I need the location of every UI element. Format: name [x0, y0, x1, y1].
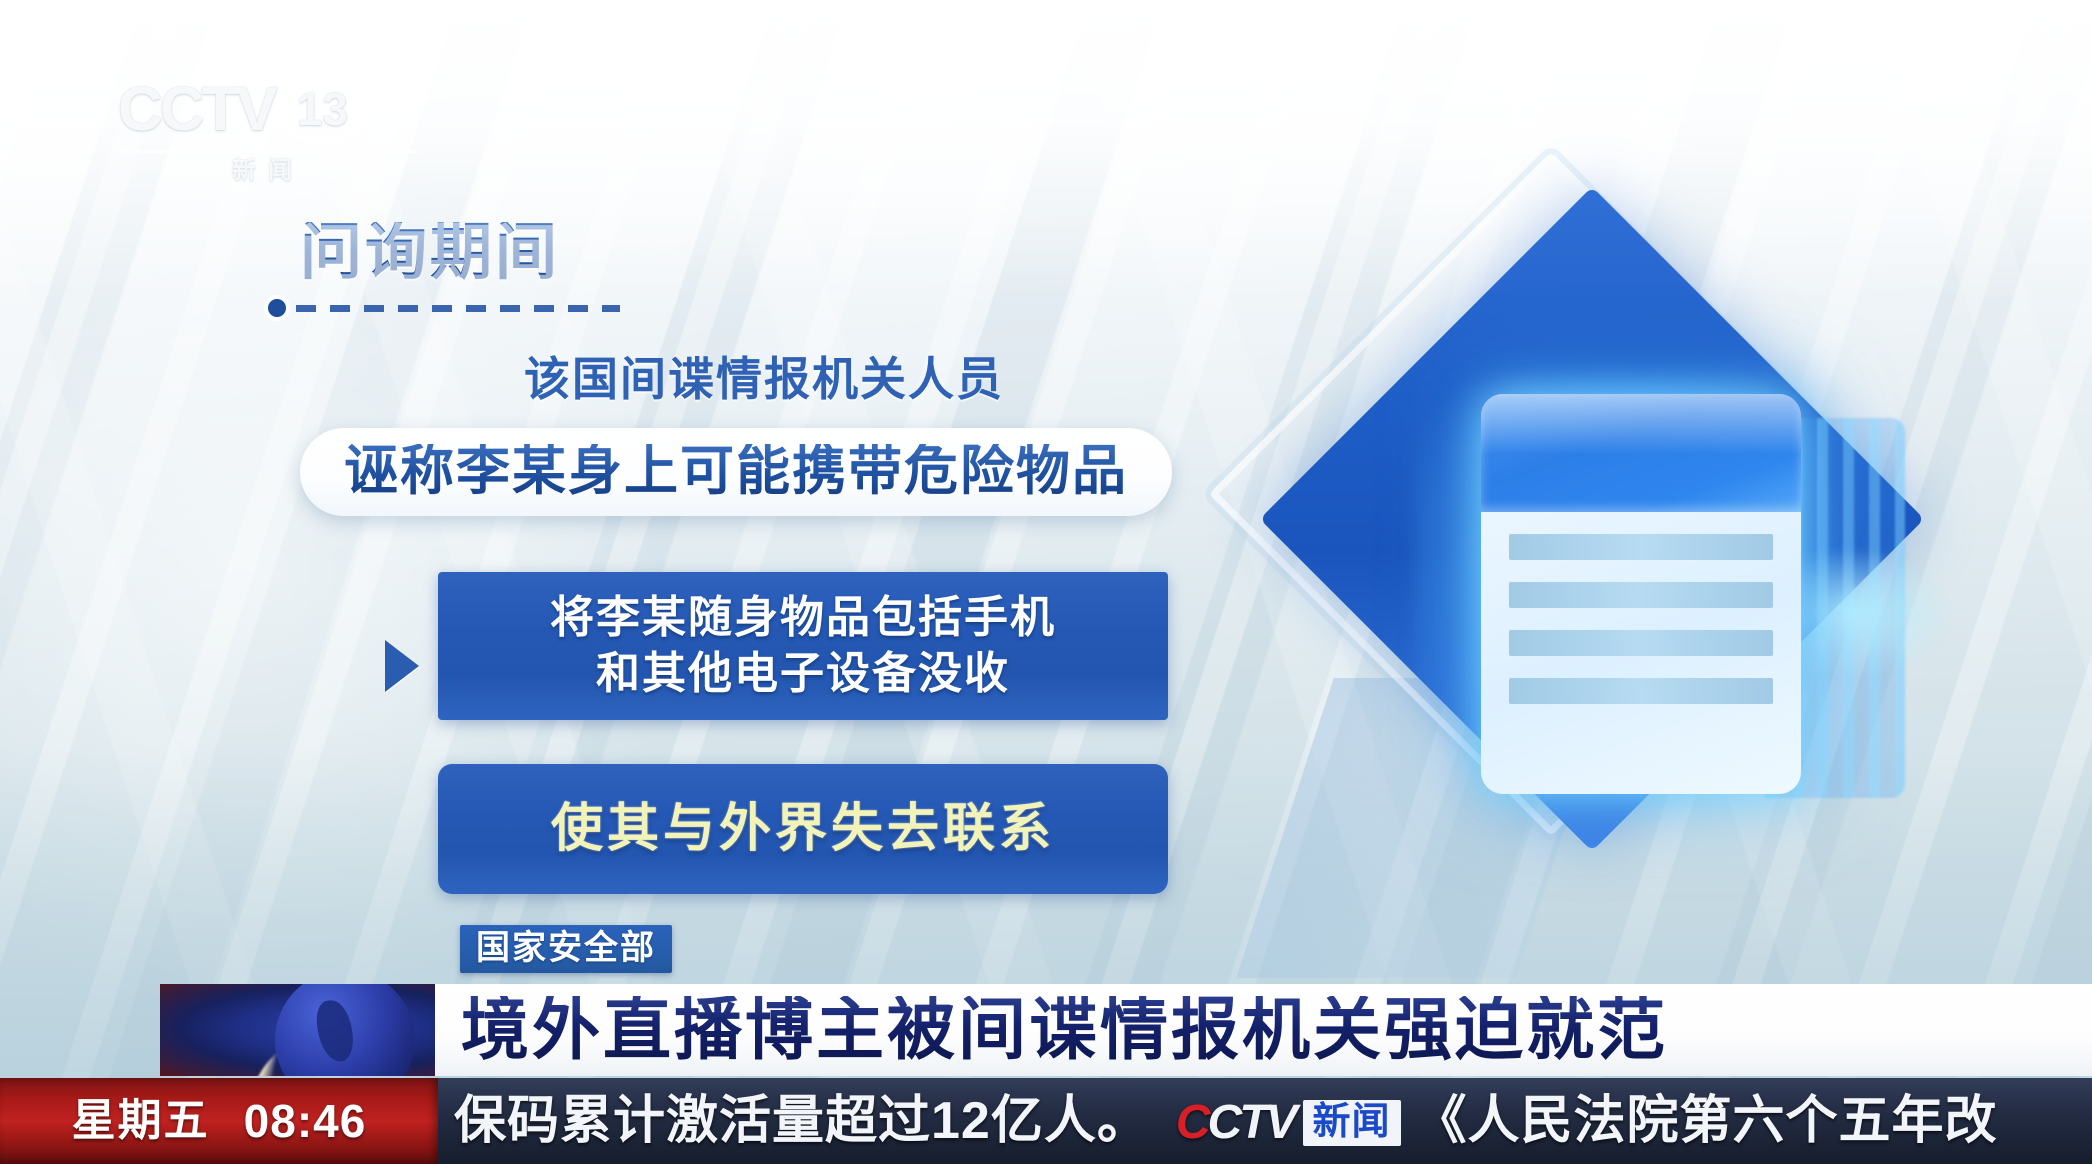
watermark-cctv-label: CCTV	[118, 79, 275, 141]
watermark-channel-number: 13	[283, 78, 362, 142]
detail-box-one-line-2: 和其他电子设备没收	[596, 646, 1010, 702]
lower-third-bar: 境外直播博主被间谍情报机关强迫就范	[160, 984, 2092, 1076]
globe-news-icon	[160, 984, 435, 1076]
detail-box-one: 将李某随身物品包括手机 和其他电子设备没收	[438, 572, 1168, 720]
statement-pill: 诬称李某身上可能携带危险物品	[300, 428, 1172, 516]
document-sheet-icon	[1481, 394, 1801, 794]
headline-panel: 境外直播博主被间谍情报机关强迫就范	[435, 984, 2092, 1076]
cctv-letter-c1: C	[1176, 1096, 1208, 1149]
source-tag: 国家安全部	[460, 925, 672, 973]
document-text-lines	[1481, 512, 1801, 704]
kicker-underline	[268, 300, 620, 316]
cctv-letters-tv: TV	[1239, 1096, 1294, 1149]
headline-text: 境外直播博主被间谍情报机关强迫就范	[461, 996, 1668, 1064]
document-line	[1509, 678, 1773, 704]
cctv-news-logo: CCTV 新闻	[1176, 1099, 1401, 1147]
source-tag-text: 国家安全部	[476, 931, 656, 965]
news-ticker: 星期五 08:46 保码累计激活量超过12亿人。 CCTV 新闻 《人民法院第六…	[0, 1078, 2092, 1164]
document-line	[1509, 534, 1773, 560]
document-list-diamond-icon	[1295, 248, 2092, 968]
document-header-shine	[1481, 394, 1801, 454]
ticker-scroll-area[interactable]: 保码累计激活量超过12亿人。 CCTV 新闻 《人民法院第六个五年改	[438, 1078, 2092, 1164]
watermark-subtitle: 新闻	[118, 150, 418, 183]
kicker-dashed-rule	[296, 305, 620, 312]
cctv-letter-c2: C	[1208, 1096, 1240, 1149]
ticker-clock: 08:46	[244, 1098, 367, 1144]
kicker-dot-marker	[268, 299, 286, 317]
document-line	[1509, 630, 1773, 656]
cctv-news-badge: 新闻	[1303, 1100, 1401, 1146]
triangle-right-icon	[385, 640, 419, 692]
cctv-wordmark: CCTV	[1176, 1099, 1295, 1147]
ticker-time-block: 星期五 08:46	[0, 1078, 438, 1164]
broadcast-screen: CCTV 13 新闻 问询期间 该国间谍情报机关人员 诬称李某身上可能携带危险物…	[0, 0, 2092, 1164]
document-line	[1509, 582, 1773, 608]
channel-watermark: CCTV 13 新闻	[118, 78, 418, 173]
ticker-weekday: 星期五	[72, 1099, 210, 1143]
detail-box-one-line-1: 将李某随身物品包括手机	[550, 590, 1056, 646]
watermark-row: CCTV 13	[118, 78, 418, 142]
detail-box-two-line: 使其与外界失去联系	[551, 796, 1055, 863]
statement-pill-text: 诬称李某身上可能携带危险物品	[344, 444, 1128, 498]
ticker-scroll-text: 保码累计激活量超过12亿人。	[454, 1095, 1150, 1147]
ticker-trailing-text: 《人民法院第六个五年改	[1415, 1095, 1998, 1147]
detail-box-two: 使其与外界失去联系	[438, 764, 1168, 894]
subline-text: 该国间谍情报机关人员	[524, 356, 1004, 402]
kicker-title: 问询期间	[300, 222, 560, 284]
